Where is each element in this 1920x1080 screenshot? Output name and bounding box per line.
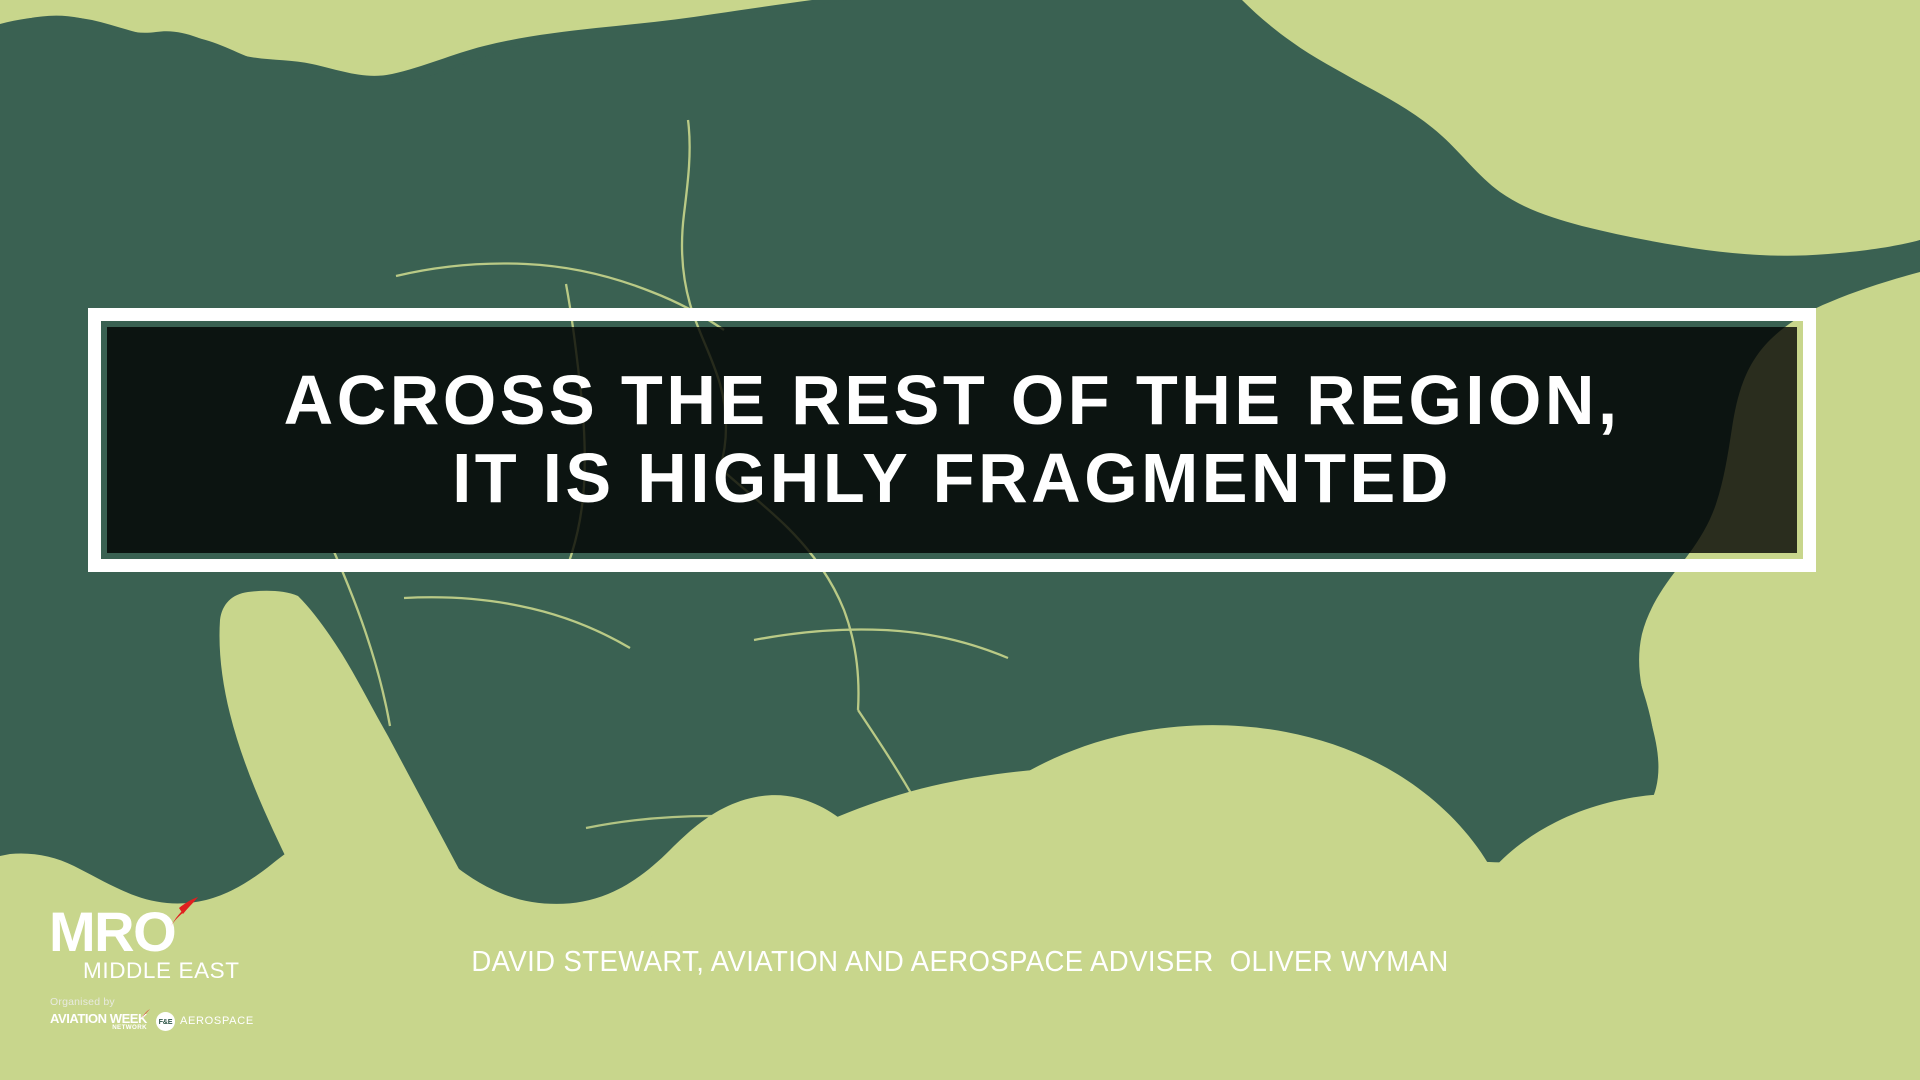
organiser-logos: AVIATION WEEK NETWORK F&E AEROSPACE [50,1012,279,1031]
title-line-1: ACROSS THE REST OF THE REGION, [284,363,1621,439]
logo-region-text: MIDDLE EAST [83,960,279,983]
aviation-week-red-tick-icon [141,1009,151,1018]
aviation-week-wordmark: AVIATION WEEK [50,1012,147,1025]
aviation-week-logo: AVIATION WEEK NETWORK [50,1012,147,1031]
logo-brand-text: MRO [49,905,175,958]
mro-middle-east-logo: MRO MIDDLE EAST Organised by AVIATION WE… [49,905,279,1031]
title-callout-box: ACROSS THE REST OF THE REGION, IT IS HIG… [88,308,1816,572]
presenter-credit: DAVID STEWART, AVIATION AND AEROSPACE AD… [48,946,1872,979]
title-text-block: ACROSS THE REST OF THE REGION, IT IS HIG… [107,327,1797,553]
title-line-2: IT IS HIGHLY FRAGMENTED [452,441,1452,517]
title-overlay-panel: ACROSS THE REST OF THE REGION, IT IS HIG… [107,327,1797,553]
fe-badge-mark: F&E [156,1012,175,1031]
logo-brand-row: MRO [49,905,175,958]
fe-aerospace-logo: F&E AEROSPACE [156,1012,254,1031]
presentation-slide: ACROSS THE REST OF THE REGION, IT IS HIG… [0,0,1920,1080]
red-swoosh-icon [165,896,199,926]
fe-badge-word: AEROSPACE [180,1015,254,1027]
organised-by-label: Organised by [50,996,279,1008]
